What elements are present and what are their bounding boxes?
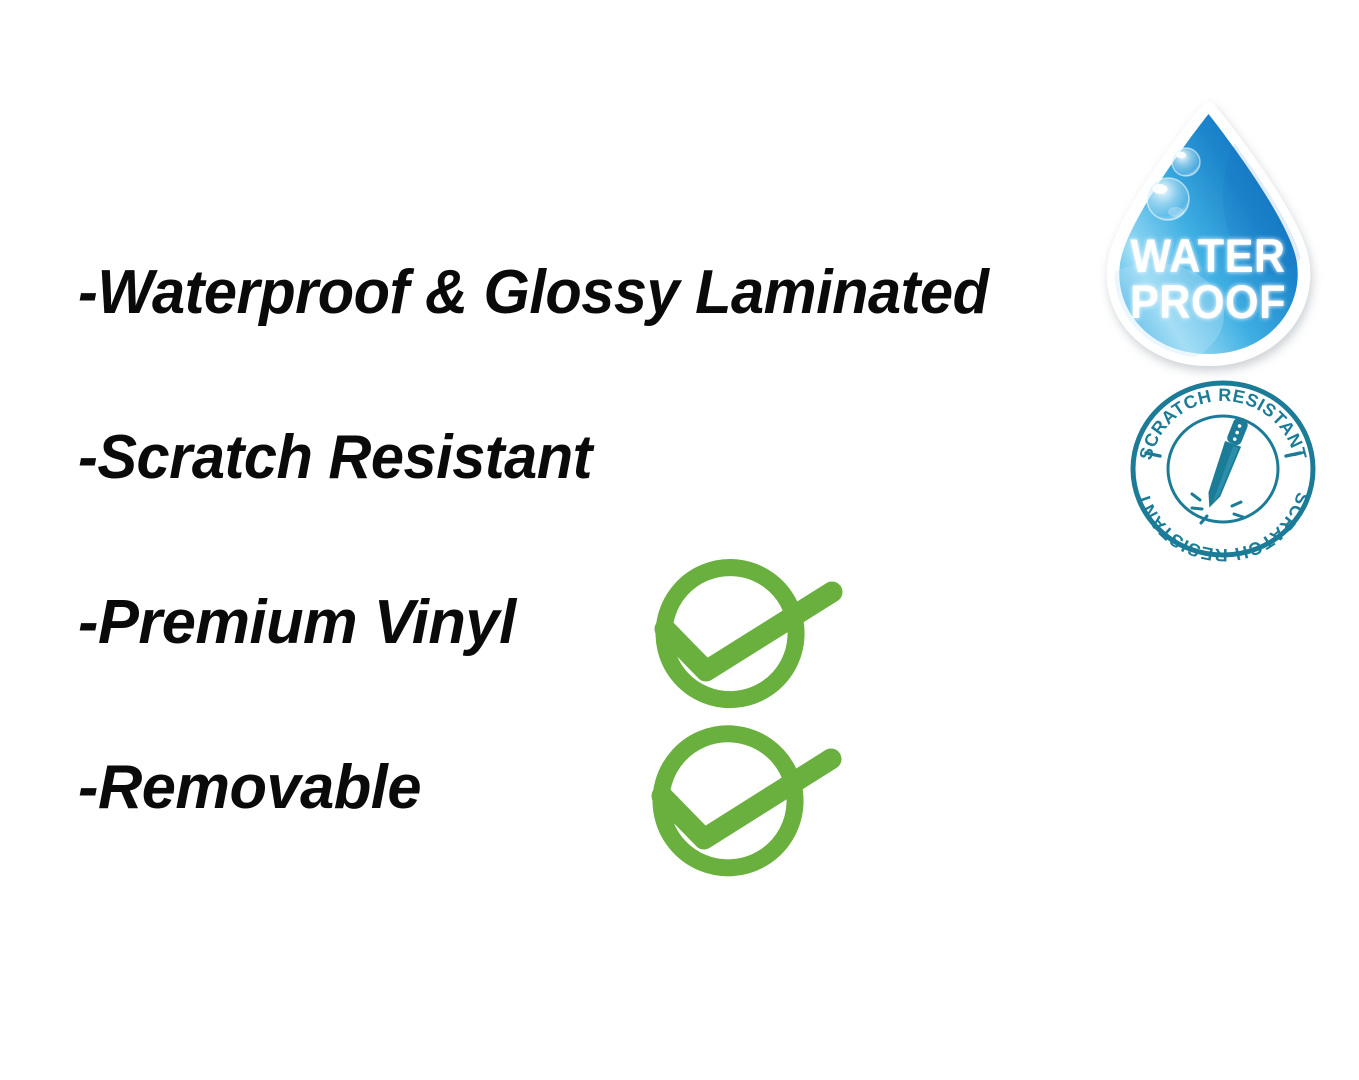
- knife-glyph: [1202, 416, 1250, 510]
- feature-item-scratch-resistant: -Scratch Resistant: [78, 427, 592, 489]
- check-mark-stroke: [665, 592, 832, 671]
- waterproof-text-line2: PROOF: [1130, 275, 1286, 328]
- seal-text-bottom: SCRATCH RESISTANT: [1133, 490, 1313, 565]
- water-drop-icon: WATER PROOF: [1096, 100, 1321, 372]
- knife-seal-icon: SCRATCH RESISTANT SCRATCH RESISTANT: [1128, 378, 1318, 560]
- waterproof-badge: WATER PROOF: [1096, 100, 1321, 372]
- check-circle-icon: [637, 721, 837, 886]
- check-mark-stroke: [662, 759, 831, 839]
- promo-feature-panel: -Waterproof & Glossy Laminated -Scratch …: [0, 0, 1359, 1080]
- check-circle-icon: [640, 556, 840, 716]
- checkmark-premium-vinyl: [640, 556, 840, 716]
- feature-item-waterproof-glossy-laminated: -Waterproof & Glossy Laminated: [78, 262, 989, 324]
- scratch-resistant-badge: SCRATCH RESISTANT SCRATCH RESISTANT: [1128, 378, 1318, 560]
- feature-item-premium-vinyl: -Premium Vinyl: [78, 592, 516, 654]
- feature-item-removable: -Removable: [78, 757, 421, 819]
- checkmark-removable: [637, 721, 837, 886]
